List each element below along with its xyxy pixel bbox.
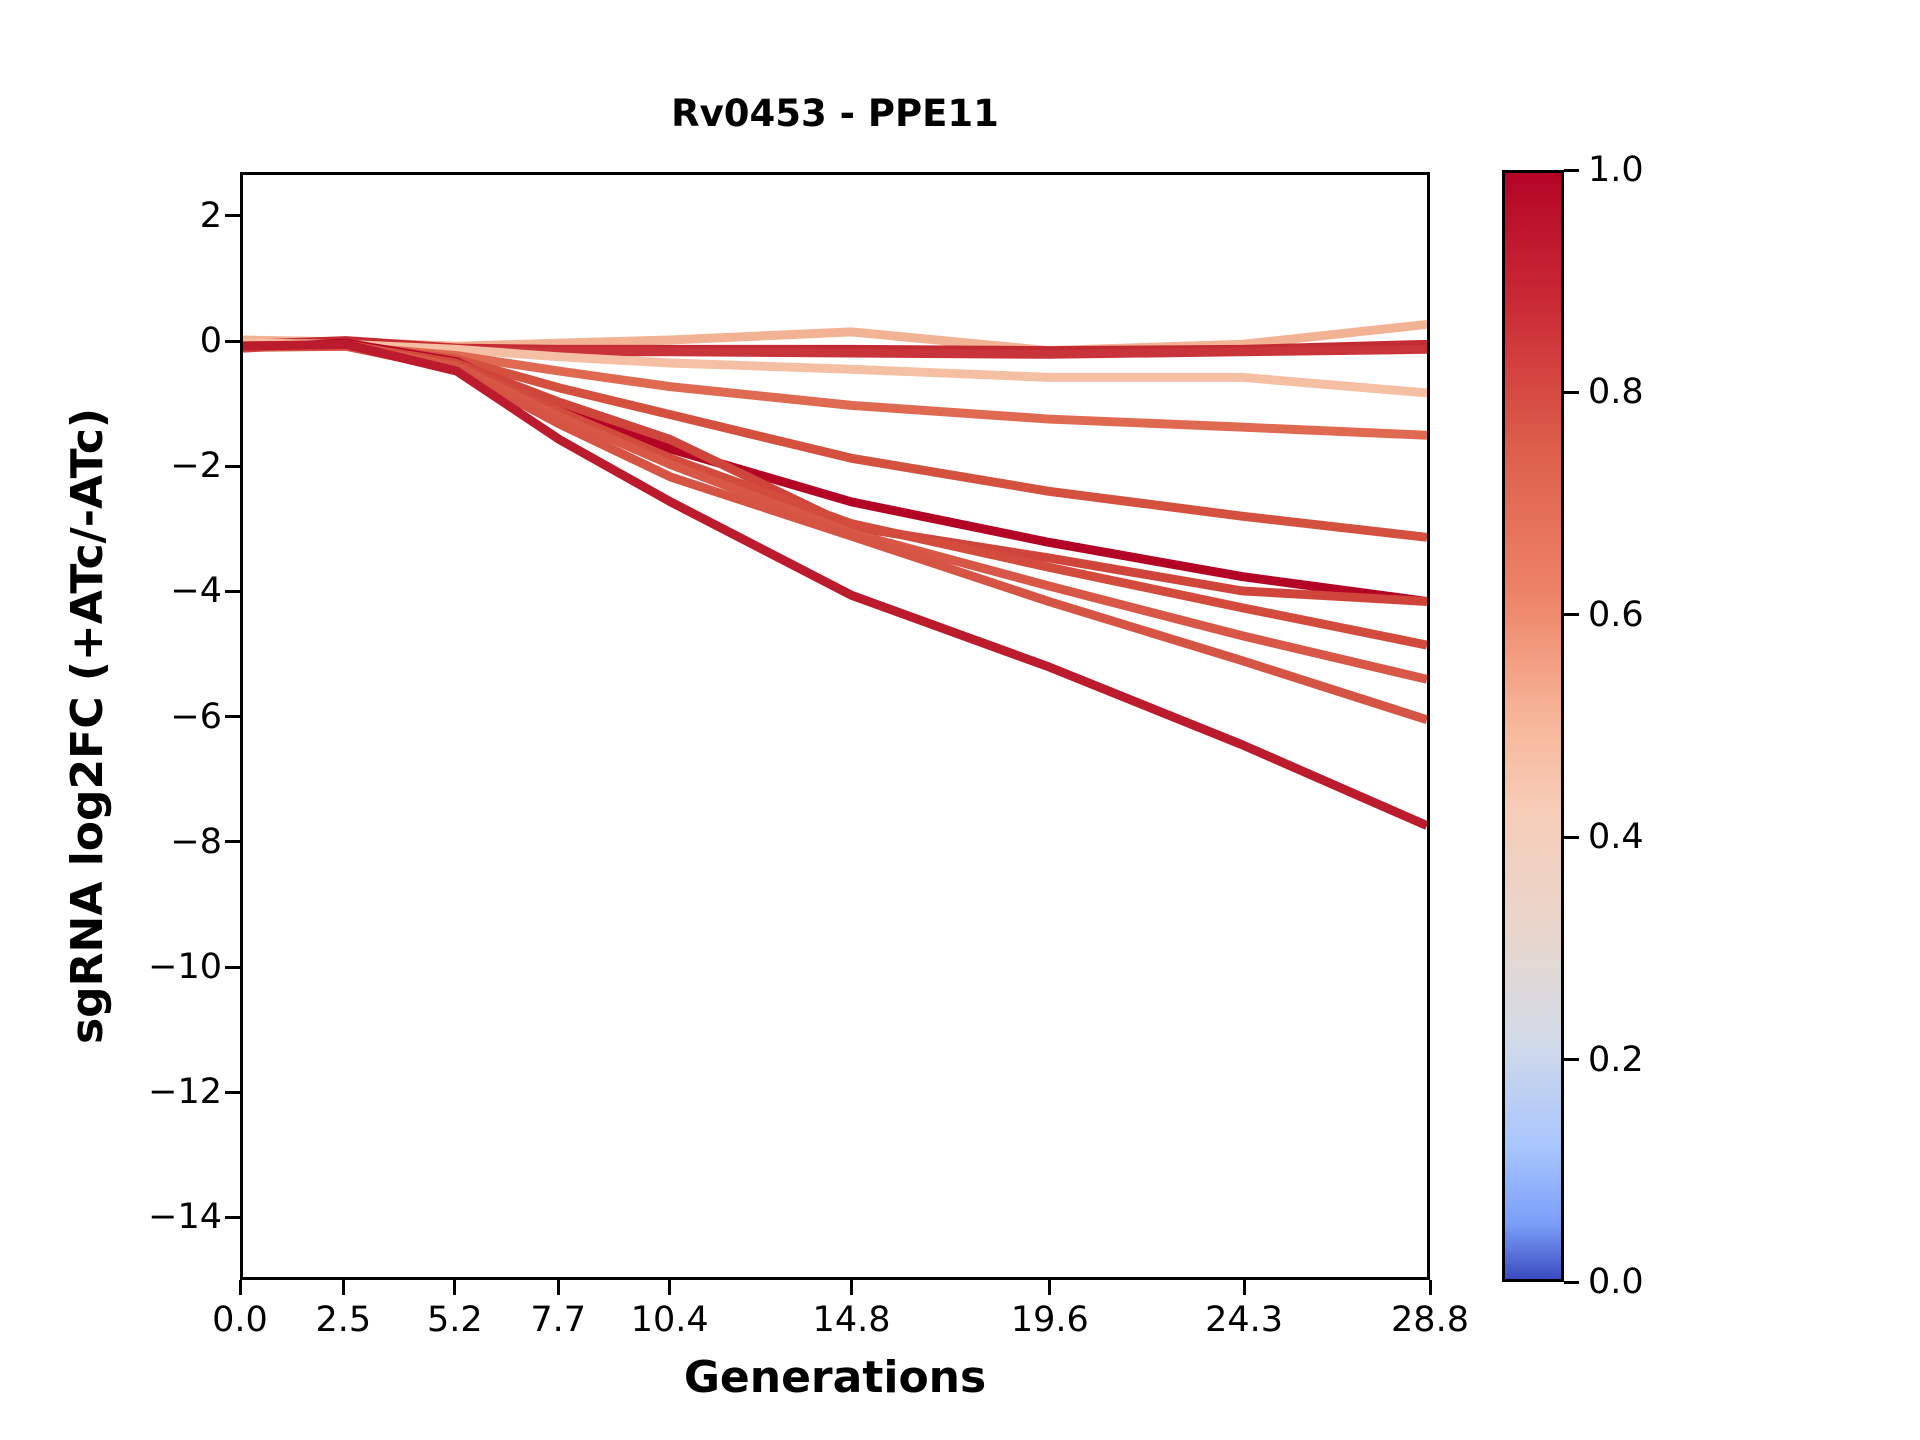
y-tick-mark: [225, 840, 240, 843]
y-tick-label: −4: [170, 571, 222, 611]
y-tick-label: −2: [170, 446, 222, 486]
colorbar-tick-mark: [1564, 1281, 1579, 1284]
line-chart-svg: [243, 175, 1427, 1277]
x-axis-label: Generations: [240, 1352, 1430, 1403]
colorbar-tick-label: 0.8: [1588, 372, 1644, 412]
colorbar-tick-mark: [1564, 391, 1579, 394]
page-title: Rv0453 - PPE11: [240, 92, 1430, 135]
x-tick-mark: [557, 1280, 560, 1295]
series-line: [243, 345, 1427, 602]
x-tick-mark: [342, 1280, 345, 1295]
y-tick-label: −14: [148, 1197, 222, 1237]
x-tick-label: 7.7: [530, 1300, 586, 1340]
x-tick-mark: [850, 1280, 853, 1295]
x-tick-label: 10.4: [631, 1300, 709, 1340]
x-tick-mark: [239, 1280, 242, 1295]
colorbar-tick-label: 0.2: [1588, 1040, 1644, 1080]
x-tick-mark: [1243, 1280, 1246, 1295]
y-tick-label: −10: [148, 947, 222, 987]
plot-area: [240, 172, 1430, 1280]
x-tick-label: 19.6: [1011, 1300, 1089, 1340]
series-line: [243, 344, 1427, 825]
y-tick-label: −8: [170, 822, 222, 862]
x-tick-mark: [1048, 1280, 1051, 1295]
x-tick-label: 0.0: [212, 1300, 268, 1340]
figure-canvas: Rv0453 - PPE11 20−2−4−6−8−10−12−14 0.02.…: [0, 0, 1920, 1440]
y-tick-mark: [225, 966, 240, 969]
colorbar-tick-mark: [1564, 1058, 1579, 1061]
x-tick-label: 24.3: [1205, 1300, 1283, 1340]
x-tick-label: 5.2: [427, 1300, 483, 1340]
y-tick-mark: [225, 715, 240, 718]
colorbar-tick-label: 0.4: [1588, 817, 1644, 857]
y-tick-label: −6: [170, 697, 222, 737]
y-tick-mark: [225, 340, 240, 343]
colorbar: [1502, 170, 1564, 1282]
x-tick-mark: [453, 1280, 456, 1295]
y-tick-mark: [225, 214, 240, 217]
x-tick-label: 14.8: [813, 1300, 891, 1340]
y-tick-label: 2: [200, 196, 222, 236]
series-line: [243, 345, 1427, 679]
colorbar-tick-label: 0.0: [1588, 1262, 1644, 1302]
colorbar-tick-mark: [1564, 613, 1579, 616]
x-tick-mark: [1429, 1280, 1432, 1295]
y-tick-mark: [225, 1091, 240, 1094]
colorbar-tick-label: 1.0: [1588, 150, 1644, 190]
colorbar-tick-label: 0.6: [1588, 595, 1644, 635]
y-tick-mark: [225, 1216, 240, 1219]
y-tick-mark: [225, 590, 240, 593]
x-tick-label: 2.5: [315, 1300, 371, 1340]
y-axis-label: sgRNA log2FC (+ATc/-ATc): [58, 172, 118, 1280]
colorbar-gradient: [1505, 173, 1561, 1279]
y-tick-label: 0: [200, 321, 222, 361]
y-tick-mark: [225, 465, 240, 468]
x-tick-mark: [668, 1280, 671, 1295]
series-line: [243, 344, 1427, 537]
y-tick-label: −12: [148, 1072, 222, 1112]
x-tick-label: 28.8: [1391, 1300, 1469, 1340]
colorbar-tick-mark: [1564, 836, 1579, 839]
colorbar-tick-mark: [1564, 169, 1579, 172]
